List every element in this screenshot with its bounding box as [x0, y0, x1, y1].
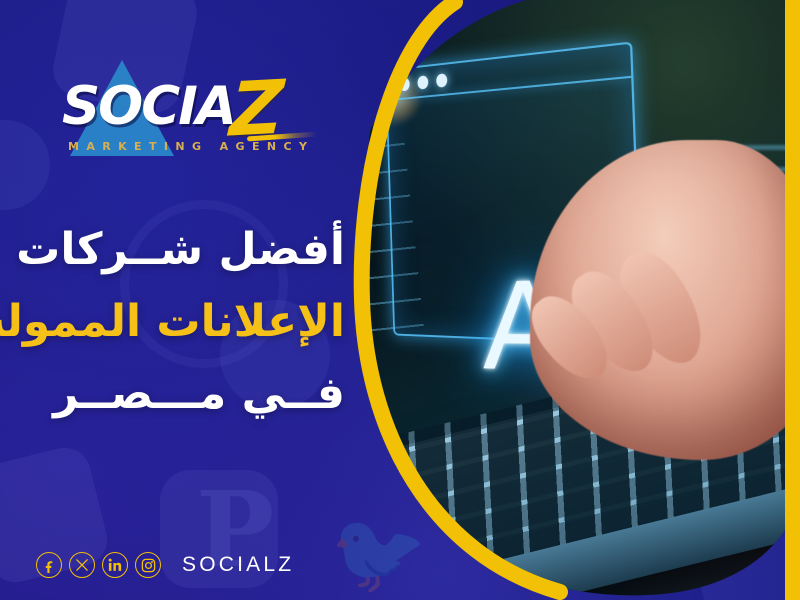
linkedin-icon[interactable]: [102, 552, 128, 578]
facebook-icon[interactable]: [36, 552, 62, 578]
x-twitter-icon[interactable]: [69, 552, 95, 578]
headline-line-3: فــي مـــصــر: [15, 372, 345, 416]
neon-window-dots: [399, 73, 447, 91]
right-edge-yellow-bar: [785, 0, 800, 600]
ad-banner: P 🐦 AD: [0, 0, 800, 600]
footer-social-bar: SOCIALZ: [36, 552, 294, 578]
headline-line-1: أفضل شــركات: [15, 228, 345, 272]
logo-wordmark: SOCIA: [62, 76, 235, 137]
logo[interactable]: SOCIA Z MARKETING AGENCY: [62, 62, 312, 162]
logo-tagline: MARKETING AGENCY: [68, 140, 314, 153]
headline: أفضل شــركات الإعلانات الممولة فــي مـــ…: [15, 228, 345, 416]
instagram-icon[interactable]: [135, 552, 161, 578]
footer-brand-name: SOCIALZ: [182, 553, 294, 577]
headline-line-2: الإعلانات الممولة: [15, 300, 345, 344]
